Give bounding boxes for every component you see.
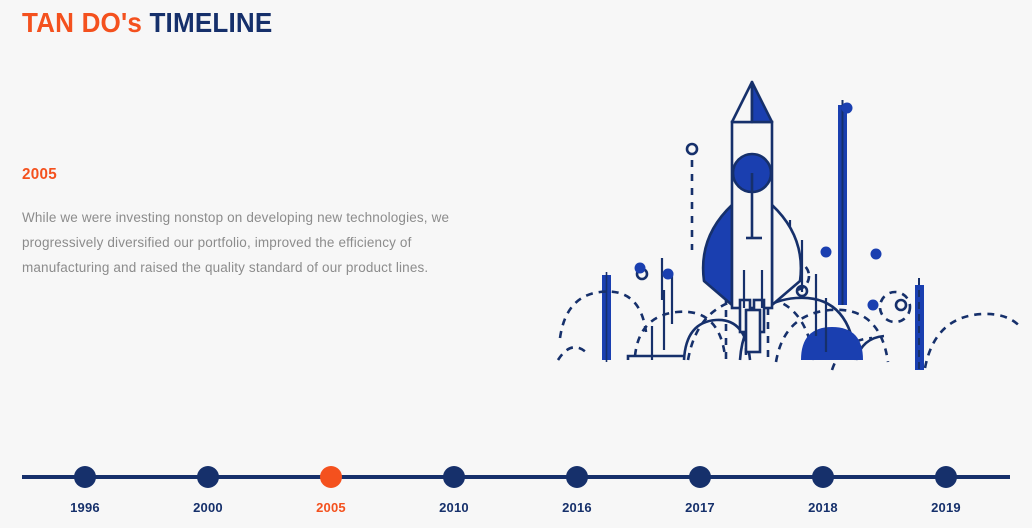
timeline-point-2019[interactable]: 2019 [916, 452, 976, 515]
timeline-dot-2000[interactable] [197, 466, 219, 488]
timeline-dot-2016[interactable] [566, 466, 588, 488]
timeline-dot-1996[interactable] [74, 466, 96, 488]
page-title-rest: TIMELINE [149, 7, 272, 38]
timeline-point-2005[interactable]: 2005 [301, 452, 361, 515]
timeline-axis [22, 475, 1010, 479]
timeline-dot-2017[interactable] [689, 466, 711, 488]
timeline-label-2005[interactable]: 2005 [301, 500, 361, 515]
timeline-label-1996[interactable]: 1996 [55, 500, 115, 515]
timeline-point-2010[interactable]: 2010 [424, 452, 484, 515]
timeline-label-2016[interactable]: 2016 [547, 500, 607, 515]
timeline-label-2019[interactable]: 2019 [916, 500, 976, 515]
timeline-point-2000[interactable]: 2000 [178, 452, 238, 515]
timeline-label-2000[interactable]: 2000 [178, 500, 238, 515]
page-title: TAN DO's TIMELINE [22, 5, 272, 41]
timeline-point-2018[interactable]: 2018 [793, 452, 853, 515]
timeline-dot-2019[interactable] [935, 466, 957, 488]
timeline-dot-2005[interactable] [320, 466, 342, 488]
timeline-point-2017[interactable]: 2017 [670, 452, 730, 515]
entry-description: While we were investing nonstop on devel… [22, 205, 502, 280]
timeline-navigation[interactable]: 19962000200520102016201720182019 [0, 452, 1032, 528]
entry-year: 2005 [22, 166, 497, 184]
timeline-point-1996[interactable]: 1996 [55, 452, 115, 515]
timeline-dot-2010[interactable] [443, 466, 465, 488]
timeline-label-2017[interactable]: 2017 [670, 500, 730, 515]
rocket-launch-illustration [540, 60, 1020, 390]
timeline-point-2016[interactable]: 2016 [547, 452, 607, 515]
page-title-brand: TAN DO's [22, 7, 142, 38]
timeline-label-2018[interactable]: 2018 [793, 500, 853, 515]
timeline-dot-2018[interactable] [812, 466, 834, 488]
timeline-label-2010[interactable]: 2010 [424, 500, 484, 515]
timeline-entry: 2005 While we were investing nonstop on … [22, 166, 522, 280]
